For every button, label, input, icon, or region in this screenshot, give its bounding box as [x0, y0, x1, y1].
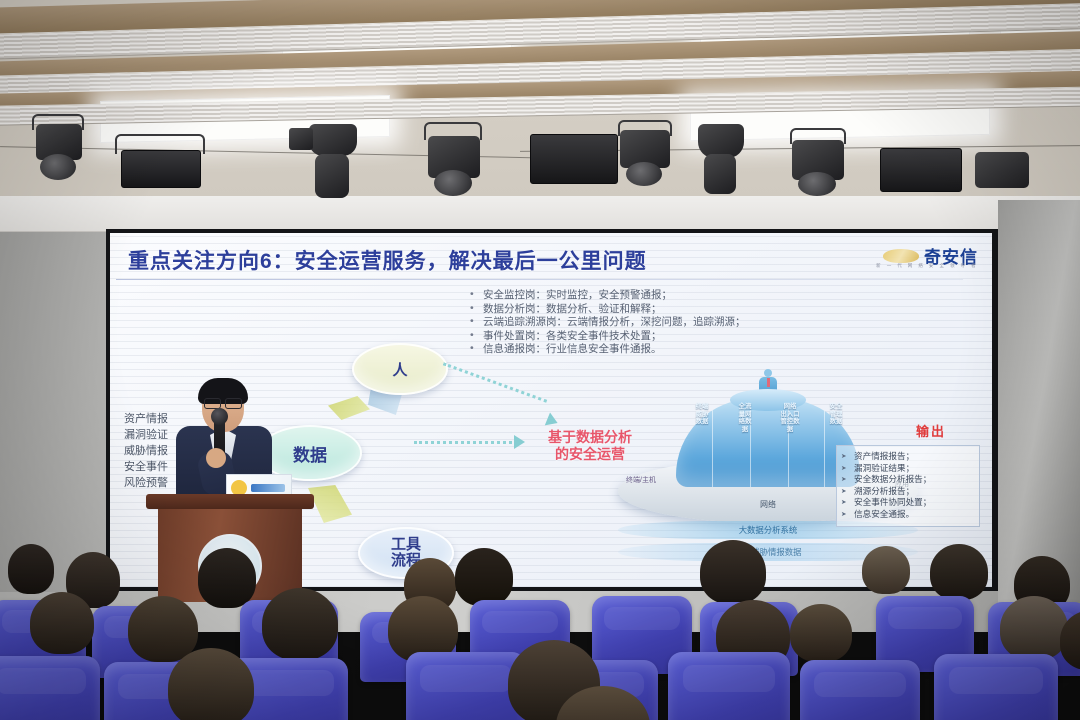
dome-side-label-left: 终端/主机 — [616, 477, 666, 486]
list-item: 数据分析岗：数据分析、验证和解释； — [470, 303, 900, 317]
list-item: 安全事件 — [124, 459, 168, 475]
list-item: 安全事件协同处置； — [840, 497, 975, 509]
list-item: 资产情报 — [124, 411, 168, 427]
audience-head — [455, 548, 513, 606]
dome-segment-label: 网络 出入口 管控数 据 — [768, 403, 812, 433]
glasses-icon — [204, 398, 242, 407]
list-item: 漏洞验证结果； — [840, 463, 975, 475]
speaker-hand — [206, 448, 226, 468]
slide-title: 重点关注方向6：安全运营服务，解决最后一公里问题 — [128, 245, 647, 275]
wall-left-section — [0, 232, 108, 592]
logo-subtitle: 新 一 代 网 络 安 全 领 导 者 — [876, 263, 978, 269]
flow-connector — [328, 396, 370, 420]
ceiling — [0, 0, 1080, 232]
lamp-lens — [626, 162, 662, 186]
list-item: 信息通报岗：行业信息安全事件通报。 — [470, 343, 900, 357]
lamp-housing — [309, 124, 357, 156]
seat — [800, 660, 920, 720]
dome-segment-label: 全流 量网 络数 据 — [723, 403, 767, 433]
role-bullet-list: 安全监控岗：实时监控，安全预警通报； 数据分析岗：数据分析、验证和解释； 云端追… — [470, 289, 900, 357]
audience-head — [862, 546, 910, 594]
arrow-head-icon — [545, 412, 560, 429]
upper-wall — [0, 196, 1080, 232]
list-item: 信息安全通报。 — [840, 509, 975, 521]
audience-head — [1000, 596, 1068, 660]
list-item: 溯源分析报告； — [840, 486, 975, 498]
list-item: 云端追踪溯源岗：云端情报分析，深挖问题，追踪溯源； — [470, 316, 900, 330]
podium-top-surface — [146, 494, 314, 509]
audience-head — [700, 540, 766, 604]
output-heading: 输出 — [916, 421, 946, 440]
lamp-housing — [880, 148, 962, 192]
lamp-housing — [121, 150, 201, 188]
audience-head — [128, 596, 198, 662]
node-people: 人 — [352, 343, 448, 395]
list-item: 安全数据分析报告； — [840, 474, 975, 486]
flow-arrow — [414, 441, 518, 444]
output-list: 资产情报报告； 漏洞验证结果； 安全数据分析报告； 溯源分析报告； 安全事件协同… — [836, 445, 980, 527]
figure-tie — [767, 378, 770, 387]
title-divider — [116, 279, 963, 280]
list-item: 事件处置岗：各类安全事件技术处置； — [470, 330, 900, 344]
list-item: 安全监控岗：实时监控，安全预警通报； — [470, 289, 900, 303]
node-label: 人 — [392, 359, 407, 380]
seat — [0, 656, 100, 720]
dome-segment-label: 终端 威胁 数据 — [680, 403, 724, 426]
node-label: 数据 — [293, 441, 327, 466]
logo-mark-icon — [883, 249, 919, 263]
microphone-head — [211, 408, 228, 425]
lamp-housing — [698, 124, 744, 158]
lamp-barrel — [704, 154, 736, 194]
audience-head — [262, 588, 338, 660]
audience-seating — [0, 540, 1080, 720]
flow-connector — [308, 485, 352, 523]
list-item: 资产情报报告； — [840, 451, 975, 463]
dome-segment-label: 安全 管理 数据 — [814, 403, 858, 426]
lamp-bracket — [289, 128, 313, 150]
list-item: 风险预警 — [124, 475, 168, 491]
lamp-lens — [40, 154, 76, 180]
audience-head — [930, 544, 988, 600]
lamp-lens — [798, 172, 836, 196]
audience-head — [198, 548, 256, 608]
lamp-housing — [530, 134, 618, 184]
lamp-barrel — [315, 154, 349, 198]
figure-head — [764, 369, 772, 377]
lamp-lens — [434, 170, 472, 196]
audience-head — [30, 592, 94, 654]
audience-head — [790, 604, 852, 662]
seat — [934, 654, 1058, 720]
seat — [668, 652, 790, 720]
audience-head — [8, 544, 54, 594]
conference-photo: 重点关注方向6：安全运营服务，解决最后一公里问题 奇安信 新 一 代 网 络 安… — [0, 0, 1080, 720]
audience-head — [168, 648, 254, 720]
lamp-housing — [975, 152, 1029, 188]
flow-arrow — [443, 362, 547, 402]
left-input-list: 资产情报 漏洞验证 威胁情报 安全事件 风险预警 — [124, 411, 168, 491]
list-item: 威胁情报 — [124, 443, 168, 459]
list-item: 漏洞验证 — [124, 427, 168, 443]
